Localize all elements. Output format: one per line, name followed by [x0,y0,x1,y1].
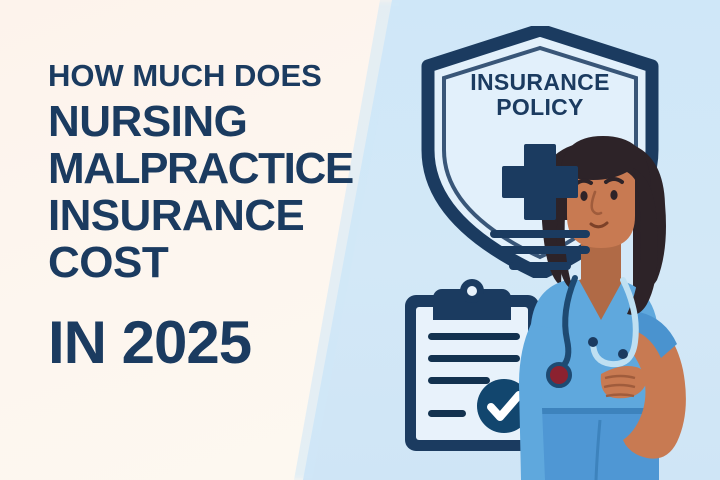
banner-root: HOW MUCH DOES NURSING MALPRACTICE INSURA… [0,0,720,480]
shield-label: INSURANCE POLICY [416,70,664,120]
insurance-policy-shield: INSURANCE POLICY [416,26,664,278]
shield-contents [416,26,664,278]
shield-label-line-2: POLICY [416,95,664,120]
shield-label-line-1: INSURANCE [416,70,664,95]
medical-cross-icon [502,144,578,220]
shield-detail-lines [490,230,590,270]
illustration-group: INSURANCE POLICY [0,0,720,480]
